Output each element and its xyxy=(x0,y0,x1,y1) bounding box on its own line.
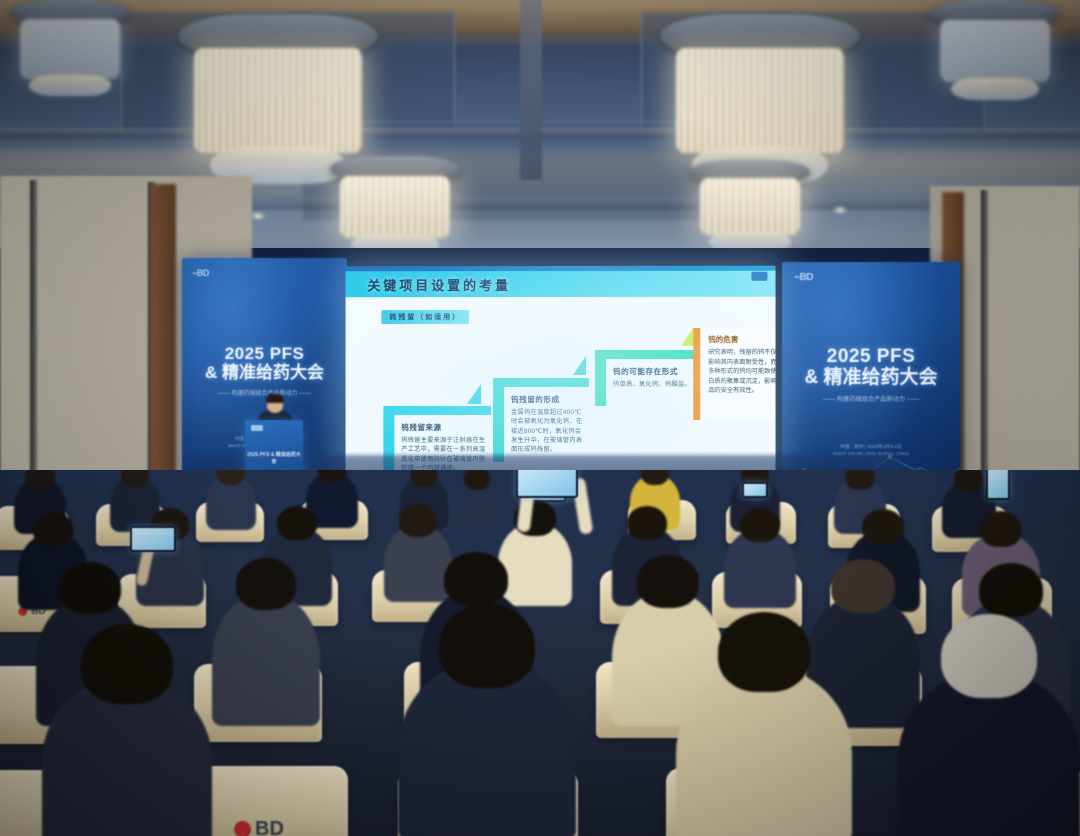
step-heading: 钨的可能存在形式 xyxy=(613,366,693,377)
banner-title-cn: & 精准给药大会 xyxy=(782,367,960,388)
podium-title: 2025 PFS & 精准给药大会 xyxy=(245,452,303,465)
arrow-icon xyxy=(681,328,693,346)
banner-title-cn: & 精准给药大会 xyxy=(182,363,347,382)
phone xyxy=(986,470,1010,500)
step-body: 金属钨在温度超过400℃时会被氧化为氧化钨，在接近800℃时，氧化钨会发生升华，… xyxy=(511,408,585,455)
downlight-icon xyxy=(250,212,266,220)
arrow-icon xyxy=(467,384,481,404)
attendee xyxy=(398,660,576,836)
bd-logo-icon xyxy=(251,425,263,431)
slide-hazard-box: 钨的危害 研究表明，残留的钨不仅会影响其内表面耐受性，而且多种形式的钨均可能致使… xyxy=(693,328,775,420)
banner-title-en: 2025 PFS xyxy=(182,344,347,363)
banner-title-en: 2025 PFS xyxy=(782,346,960,367)
hazard-body: 研究表明，残留的钨不仅会影响其内表面耐受性，而且多种形式的钨均可能致使蛋白质的聚… xyxy=(708,348,775,396)
conference-photo: ⌁BD 2025 PFS & 精准给药大会 —— 构建药械组合产品新动力 —— … xyxy=(0,0,1080,836)
banner-subtitle: —— 构建药械组合产品新动力 —— xyxy=(782,394,960,403)
slide-step-3: 钨的可能存在形式 钨单质、氧化钨、钨酸盐。 xyxy=(595,350,697,406)
step-heading: 钨残留的形成 xyxy=(511,394,585,405)
chandelier xyxy=(660,14,860,184)
chair-brand: BD xyxy=(255,818,284,836)
ceiling-beam xyxy=(520,0,542,180)
step-body: 钨单质、氧化钨、钨酸盐。 xyxy=(613,380,693,389)
chandelier xyxy=(330,156,460,248)
attendee xyxy=(454,480,500,532)
bd-logo-icon: ⌁BD xyxy=(192,268,209,279)
phone xyxy=(742,482,768,498)
phone-raised xyxy=(130,526,176,552)
audience-area: BD BD BD xyxy=(0,470,1080,836)
attendee xyxy=(676,666,852,836)
attendee xyxy=(384,524,452,602)
arrow-icon xyxy=(573,356,586,375)
attendee xyxy=(42,676,212,836)
step-heading: 钨残留来源 xyxy=(401,422,487,433)
attendee xyxy=(212,592,320,726)
phone-raised xyxy=(516,470,578,498)
chandelier xyxy=(10,0,130,96)
attendee xyxy=(206,474,256,530)
downlight-icon xyxy=(832,206,848,214)
attendee xyxy=(724,528,796,608)
attendee-photographer xyxy=(498,522,572,606)
bd-logo-icon: ⌁BD xyxy=(794,272,813,283)
attendee xyxy=(898,670,1080,836)
chandelier xyxy=(690,160,810,248)
chandelier xyxy=(930,0,1060,100)
slide-step-2: 钨残留的形成 金属钨在温度超过400℃时会被氧化为氧化钨，在接近800℃时，氧化… xyxy=(493,378,589,462)
hazard-heading: 钨的危害 xyxy=(708,334,775,345)
